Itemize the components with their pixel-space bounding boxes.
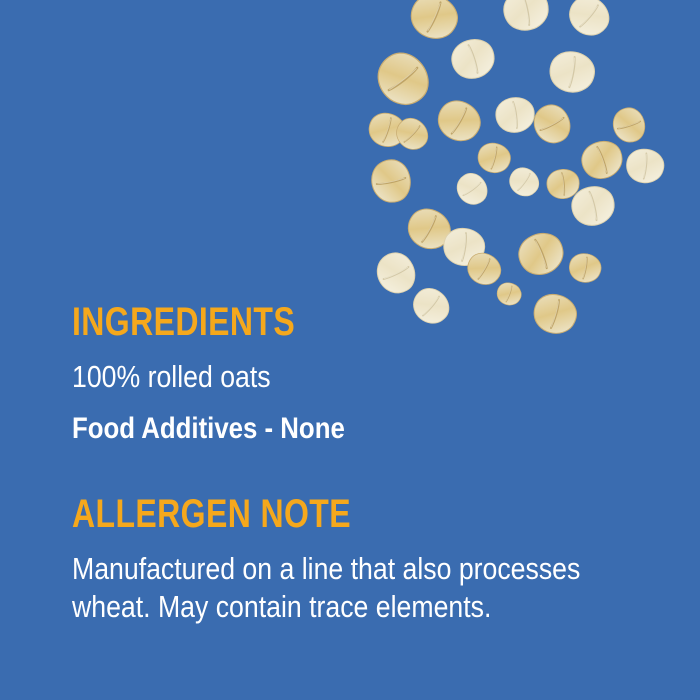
oat-flake — [361, 106, 412, 153]
allergen-note-line-1: Manufactured on a line that also process… — [72, 550, 588, 588]
ingredients-line-2: Food Additives - None — [72, 410, 588, 448]
oat-flake — [496, 0, 556, 37]
oat-flake — [400, 0, 468, 49]
oat-flake — [442, 31, 504, 87]
label-text-block: INGREDIENTS 100% rolled oats Food Additi… — [72, 300, 672, 626]
oat-flake — [571, 132, 634, 187]
oat-flake — [525, 96, 579, 153]
allergen-note-line-2: wheat. May contain trace elements. — [72, 588, 588, 626]
allergen-note-heading: ALLERGEN NOTE — [72, 492, 552, 536]
oat-flake — [460, 245, 508, 292]
oat-flake — [438, 215, 490, 279]
oat-flake — [509, 224, 574, 284]
poster-canvas: INGREDIENTS 100% rolled oats Food Additi… — [0, 0, 700, 700]
oat-flake — [501, 159, 547, 205]
oat-flake — [566, 180, 621, 232]
oat-flake — [623, 140, 668, 192]
oat-flake — [491, 93, 540, 137]
oat-flake — [471, 138, 518, 179]
oat-flake — [540, 45, 605, 98]
oat-flake — [388, 110, 436, 158]
oat-flake — [427, 90, 491, 151]
oat-flake — [397, 199, 461, 260]
oat-flake — [368, 244, 424, 303]
oat-flake — [607, 102, 651, 149]
ingredients-line-1: 100% rolled oats — [72, 358, 588, 396]
oat-flake — [541, 166, 584, 202]
oat-flake — [448, 165, 495, 212]
oat-flake — [366, 154, 417, 208]
oat-flake — [363, 39, 442, 120]
ingredients-heading: INGREDIENTS — [72, 300, 552, 344]
oat-flake — [565, 245, 605, 290]
oat-flake — [559, 0, 620, 46]
